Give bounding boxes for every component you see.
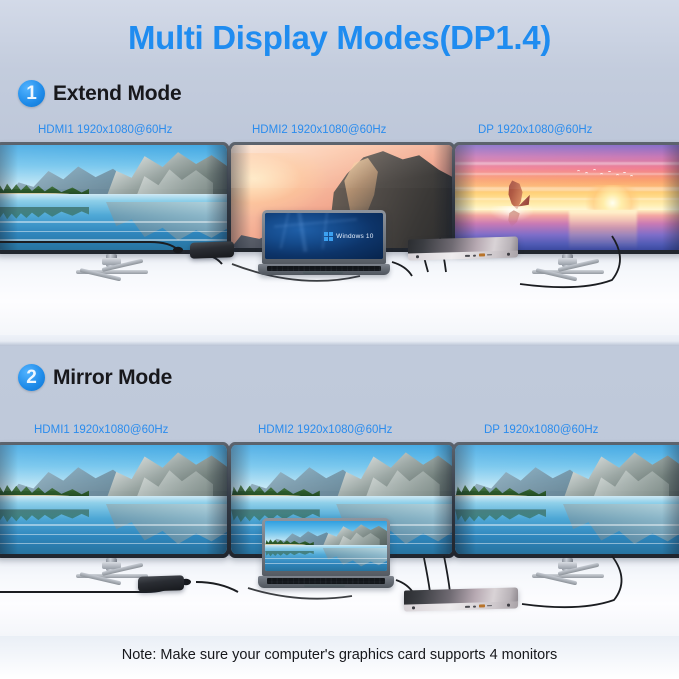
wallpaper-sunset-whale (455, 145, 679, 250)
resolution-label-hdmi2: HDMI2 1920x1080@60Hz (252, 124, 386, 136)
resolution-label-hdmi1-mirror: HDMI1 1920x1080@60Hz (34, 424, 168, 436)
usb-c-port (473, 254, 477, 256)
wallpaper-mountain-lake-laptop (265, 521, 387, 571)
section-extend-mode: 1 Extend Mode HDMI1 1920x1080@60Hz HDMI2… (0, 70, 679, 335)
usb-hub-adapter-extend (190, 241, 234, 259)
sd-card-slot (487, 254, 492, 256)
resolution-label-hdmi1: HDMI1 1920x1080@60Hz (38, 124, 172, 136)
windows-branding: Windows 10 (324, 232, 373, 241)
resolution-labels-extend: HDMI1 1920x1080@60Hz HDMI2 1920x1080@60H… (0, 124, 679, 138)
usb-a-port-mirror (465, 605, 470, 607)
laptop-base-mirror (258, 576, 395, 588)
monitor-screen-hdmi1 (0, 145, 227, 250)
resolution-labels-mirror: HDMI1 1920x1080@60Hz HDMI2 1920x1080@60H… (0, 424, 679, 438)
usb-hub-adapter-mirror (138, 575, 184, 592)
footer-note: Note: Make sure your computer's graphics… (0, 647, 679, 663)
hdmi-port (479, 254, 485, 256)
wallpaper-mountain-lake-mirror-3 (455, 445, 679, 554)
mode-label-extend: Extend Mode (53, 82, 181, 106)
monitor-screen-hdmi1-mirror (0, 445, 227, 554)
resolution-label-dp: DP 1920x1080@60Hz (478, 124, 592, 136)
audio-jack-port-mirror (412, 606, 415, 609)
docking-station-extend[interactable] (408, 236, 518, 255)
step-badge-1: 1 (18, 80, 45, 107)
laptop-screen-extend: Windows 10 (265, 213, 383, 259)
resolution-label-dp-mirror: DP 1920x1080@60Hz (484, 424, 598, 436)
section-divider (0, 335, 679, 346)
page-title: Multi Display Modes(DP1.4) (0, 19, 679, 57)
sd-card-slot-mirror (487, 605, 492, 607)
power-port-mirror (507, 604, 510, 607)
monitor-hdmi1-mirror (0, 442, 230, 576)
wallpaper-mountain-lake-mirror-1 (0, 445, 227, 554)
monitor-screen-dp (455, 145, 679, 250)
footer-band: Note: Make sure your computer's graphics… (0, 636, 679, 679)
power-port (507, 253, 510, 256)
wallpaper-mountain-lake (0, 145, 227, 250)
monitor-dp-mirror (452, 442, 679, 576)
usb-a-port (465, 254, 470, 256)
mode-heading-mirror: 2 Mirror Mode (18, 364, 172, 391)
mode-label-mirror: Mirror Mode (53, 366, 172, 390)
mode-heading-extend: 1 Extend Mode (18, 80, 181, 107)
header-band: Multi Display Modes(DP1.4) (0, 0, 679, 70)
windows-os-label: Windows 10 (336, 233, 373, 240)
resolution-label-hdmi2-mirror: HDMI2 1920x1080@60Hz (258, 424, 392, 436)
laptop-trackpad (303, 271, 343, 274)
laptop-trackpad-mirror (304, 584, 345, 587)
hdmi-port-mirror (479, 605, 485, 607)
usb-c-port-mirror (473, 605, 477, 607)
windows-logo-icon (324, 232, 333, 241)
laptop-base-extend (258, 264, 391, 275)
laptop-keyboard (267, 266, 381, 272)
docking-station-mirror[interactable] (404, 587, 518, 606)
birds-flock (574, 168, 638, 181)
monitor-screen-dp-mirror (455, 445, 679, 554)
section-mirror-mode: 2 Mirror Mode HDMI1 1920x1080@60Hz HDMI2… (0, 346, 679, 636)
wallpaper-windows10: Windows 10 (265, 213, 383, 259)
step-badge-2: 2 (18, 364, 45, 391)
audio-jack-port (416, 255, 419, 258)
laptop-extend: Windows 10 (262, 210, 386, 272)
infographic-page: Multi Display Modes(DP1.4) 1 Extend Mode… (0, 0, 679, 679)
laptop-screen-mirror (265, 521, 387, 571)
laptop-keyboard-mirror (267, 578, 385, 584)
laptop-mirror (262, 518, 390, 586)
